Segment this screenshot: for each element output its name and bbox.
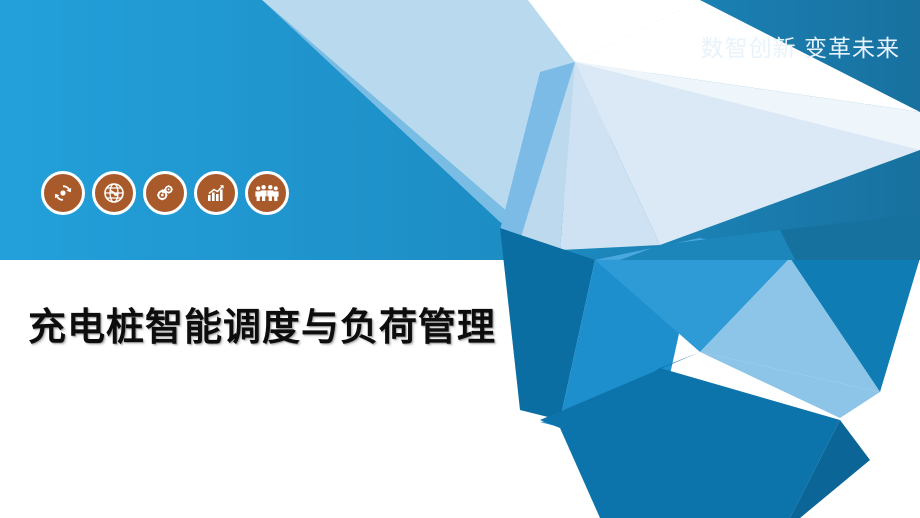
icon-badge-row	[41, 171, 292, 215]
bar-chart-growth-icon[interactable]	[194, 171, 238, 215]
title-slide: 数智创新 变革未来	[0, 0, 920, 518]
refresh-cycle-icon[interactable]	[41, 171, 85, 215]
gears-icon[interactable]	[143, 171, 187, 215]
background-geometric-artwork	[0, 0, 920, 518]
page-title: 充电桩智能调度与负荷管理	[28, 296, 496, 351]
globe-icon[interactable]	[92, 171, 136, 215]
people-group-icon[interactable]	[245, 171, 289, 215]
slide-tagline: 数智创新 变革未来	[701, 29, 900, 63]
